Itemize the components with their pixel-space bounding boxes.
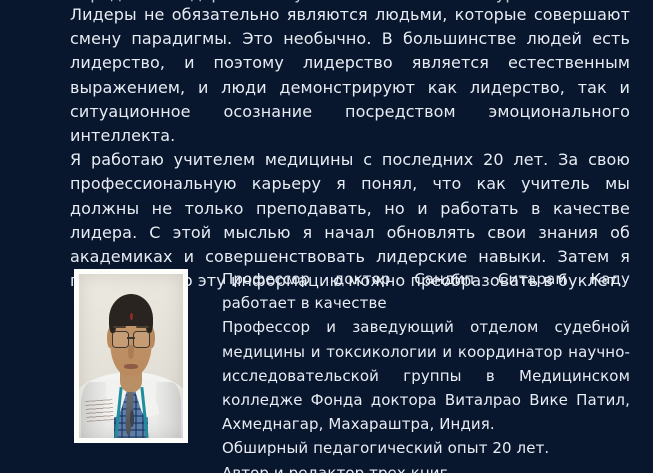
bio-line-role-intro: Профессор доктор Сандип Ситарам Каду раб… [222, 267, 630, 315]
paragraph-leadership: Лидеры не обязательно являются людьми, к… [70, 3, 630, 148]
slide-page: парадигмы лидерства могут возникать на л… [0, 0, 653, 473]
author-photo-frame [74, 269, 188, 443]
eyeglass-lens-left [112, 331, 130, 348]
author-bio: Профессор доктор Сандип Ситарам Каду раб… [222, 267, 630, 473]
body-copy: Лидеры не обязательно являются людьми, к… [70, 3, 630, 293]
lab-coat-shadow-right [156, 382, 181, 438]
hair-side-left [109, 310, 116, 333]
eyeglass-bridge [127, 337, 134, 339]
mouth [124, 364, 139, 369]
author-photo [79, 274, 183, 438]
eyeglass-lens-right [133, 331, 151, 348]
bio-line-books: Автор и редактор трех книг. [222, 461, 630, 473]
nose [128, 345, 133, 360]
bio-line-experience: Обширный педагогический опыт 20 лет. [222, 436, 630, 460]
hair-side-right [146, 310, 153, 333]
stethoscope-chestpiece [130, 410, 134, 426]
forehead-mark [130, 313, 133, 320]
coat-name-embroidery [86, 399, 114, 422]
bio-line-position: Профессор и заведующий отделом судебной … [222, 315, 630, 436]
